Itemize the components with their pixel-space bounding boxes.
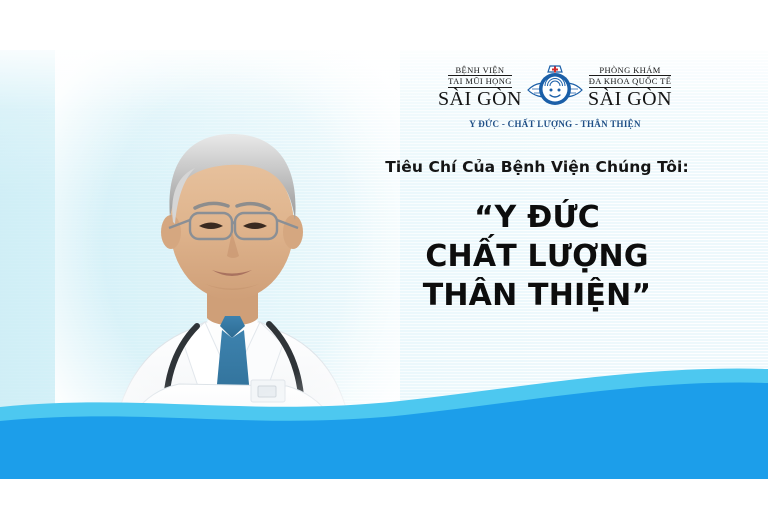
logo-right-line3: SÀI GÒN <box>588 89 672 109</box>
logo-tagline: Y ĐỨC - CHẤT LƯỢNG - THÂN THIỆN <box>469 119 641 129</box>
slogan-line-3: THÂN THIỆN” <box>372 276 702 315</box>
hospital-banner: BỆNH VIỆN TAI MŨI HỌNG SÀI GÒN <box>0 50 768 479</box>
logo-left-line2: TAI MŨI HỌNG <box>448 75 512 88</box>
wave-decoration <box>0 359 768 479</box>
banner-copy: Tiêu Chí Của Bệnh Viện Chúng Tôi: “Y ĐỨC… <box>372 158 702 315</box>
logo-right-line1: PHÒNG KHÁM <box>599 66 660 75</box>
logo-row: BỆNH VIỆN TAI MŨI HỌNG SÀI GÒN <box>438 58 672 116</box>
logo-left-wordmark: BỆNH VIỆN TAI MŨI HỌNG SÀI GÒN <box>438 66 522 109</box>
hospital-logo: BỆNH VIỆN TAI MŨI HỌNG SÀI GÒN <box>424 58 686 140</box>
wave-front-layer <box>0 383 768 479</box>
banner-canvas: BỆNH VIỆN TAI MŨI HỌNG SÀI GÒN <box>0 0 768 532</box>
logo-left-line3: SÀI GÒN <box>438 89 522 109</box>
banner-kicker: Tiêu Chí Của Bệnh Viện Chúng Tôi: <box>372 158 702 176</box>
winged-smiling-face-medical-emblem-icon <box>526 64 584 110</box>
slogan-line-1: “Y ĐỨC <box>372 198 702 237</box>
logo-right-wordmark: PHÒNG KHÁM ĐA KHOA QUỐC TẾ SÀI GÒN <box>588 66 672 109</box>
logo-left-line1: BỆNH VIỆN <box>455 66 504 75</box>
banner-slogan: “Y ĐỨC CHẤT LƯỢNG THÂN THIỆN” <box>372 198 702 315</box>
logo-right-line2: ĐA KHOA QUỐC TẾ <box>589 75 672 88</box>
slogan-line-2: CHẤT LƯỢNG <box>372 237 702 276</box>
